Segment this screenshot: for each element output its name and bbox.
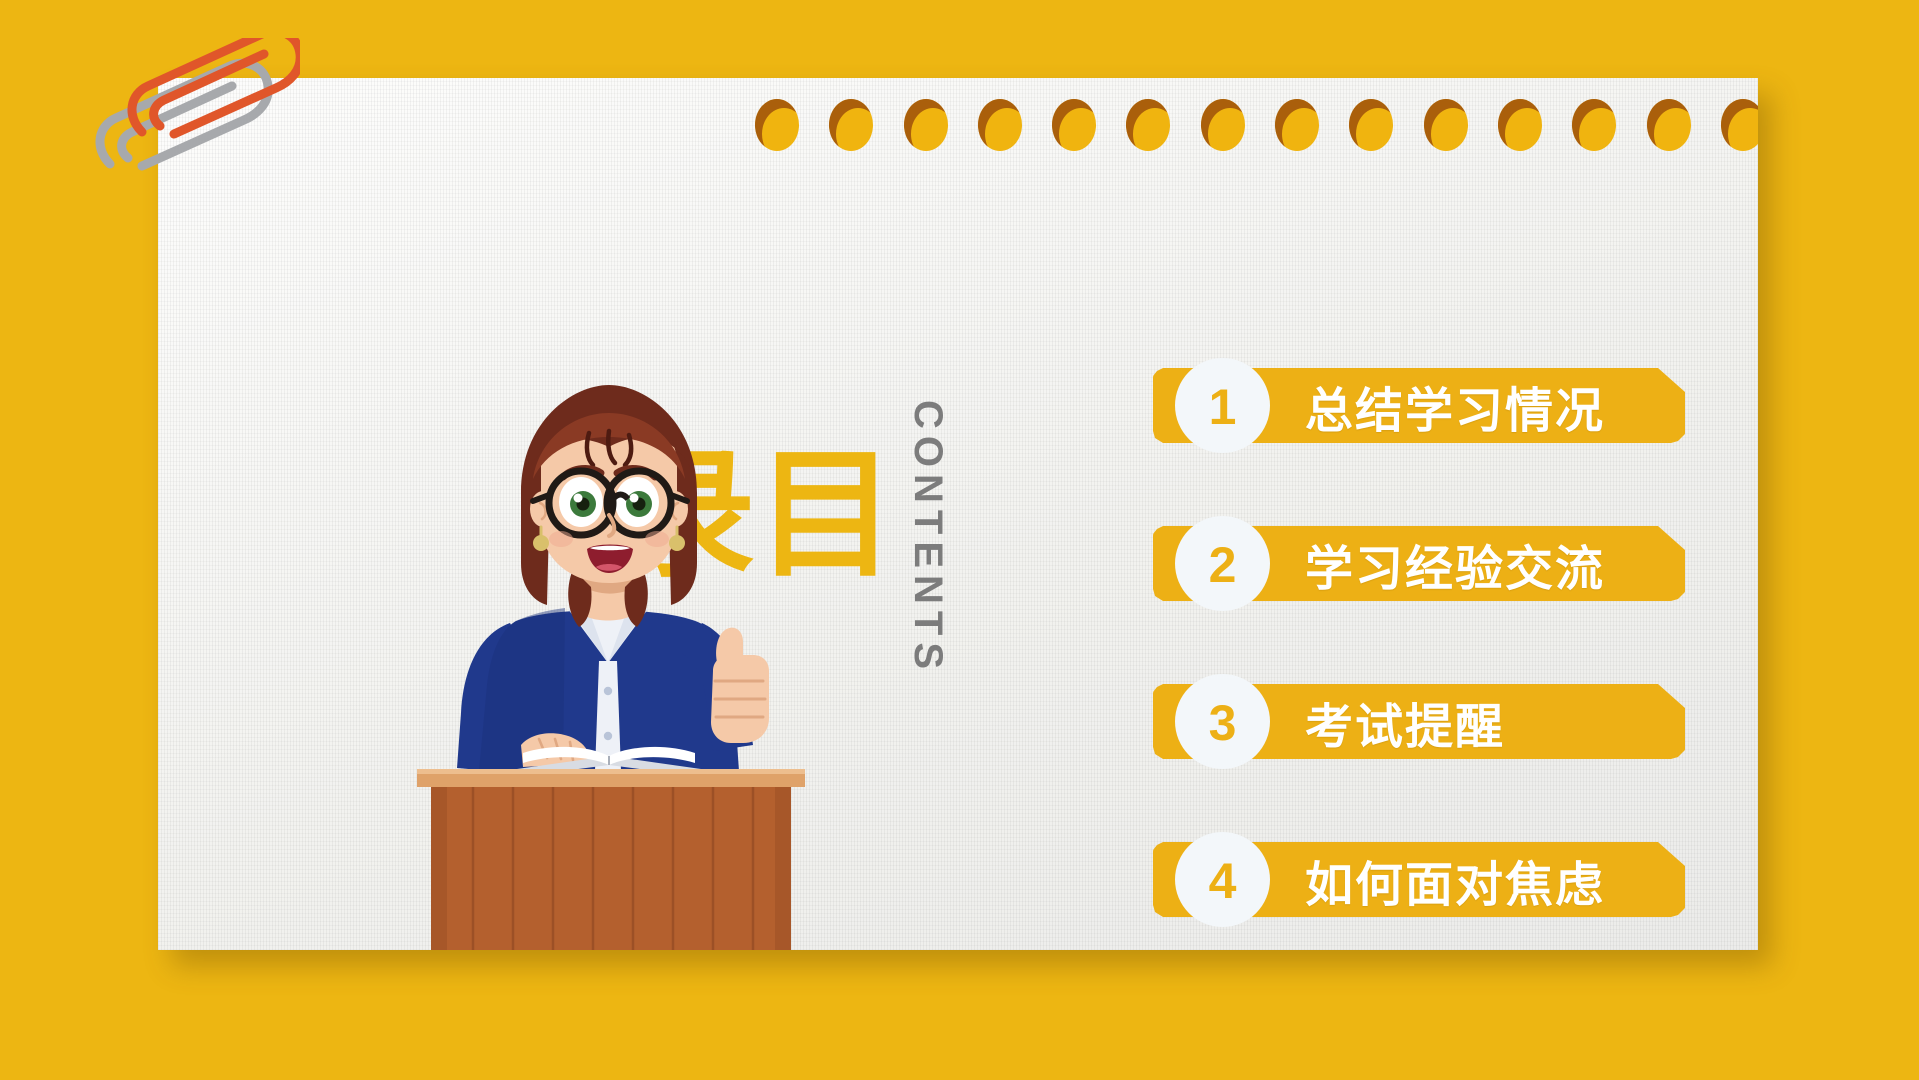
agenda-label: 考试提醒 xyxy=(1305,687,1505,757)
teacher-illustration xyxy=(413,373,813,950)
punch-hole xyxy=(904,99,948,151)
agenda-number: 1 xyxy=(1209,382,1237,432)
punch-hole-row xyxy=(755,94,1758,156)
thumbs-up-hand xyxy=(711,628,769,743)
punch-hole xyxy=(1349,99,1393,151)
agenda-item-3[interactable]: 3 考试提醒 xyxy=(1153,684,1693,759)
punch-hole xyxy=(1498,99,1542,151)
punch-hole xyxy=(978,99,1022,151)
punch-hole xyxy=(1424,99,1468,151)
paper-card: 目录 CONTENTS xyxy=(158,78,1758,950)
agenda-label: 如何面对焦虑 xyxy=(1305,845,1605,915)
punch-hole xyxy=(1721,99,1758,151)
eye-left xyxy=(559,477,603,527)
punch-hole xyxy=(1052,99,1096,151)
agenda-number: 4 xyxy=(1209,856,1237,906)
teacher-body xyxy=(457,600,769,771)
agenda-list: 1 总结学习情况 2 学习经验交流 3 考试提醒 4 如何面对焦虑 xyxy=(1153,368,1693,917)
punch-hole xyxy=(1126,99,1170,151)
agenda-item-1[interactable]: 1 总结学习情况 xyxy=(1153,368,1693,443)
eye-right xyxy=(615,477,659,527)
punch-hole xyxy=(1201,99,1245,151)
agenda-number: 2 xyxy=(1209,540,1237,590)
agenda-number-badge: 4 xyxy=(1175,832,1270,927)
agenda-number-badge: 3 xyxy=(1175,674,1270,769)
page-title-en: CONTENTS xyxy=(905,400,950,676)
agenda-label: 总结学习情况 xyxy=(1305,371,1605,441)
agenda-item-4[interactable]: 4 如何面对焦虑 xyxy=(1153,842,1693,917)
agenda-number: 3 xyxy=(1209,698,1237,748)
podium xyxy=(417,769,805,950)
punch-hole xyxy=(1647,99,1691,151)
punch-hole xyxy=(1572,99,1616,151)
agenda-item-2[interactable]: 2 学习经验交流 xyxy=(1153,526,1693,601)
punch-hole xyxy=(829,99,873,151)
agenda-number-badge: 2 xyxy=(1175,516,1270,611)
agenda-label: 学习经验交流 xyxy=(1305,529,1605,599)
punch-hole xyxy=(755,99,799,151)
agenda-number-badge: 1 xyxy=(1175,358,1270,453)
punch-hole xyxy=(1275,99,1319,151)
